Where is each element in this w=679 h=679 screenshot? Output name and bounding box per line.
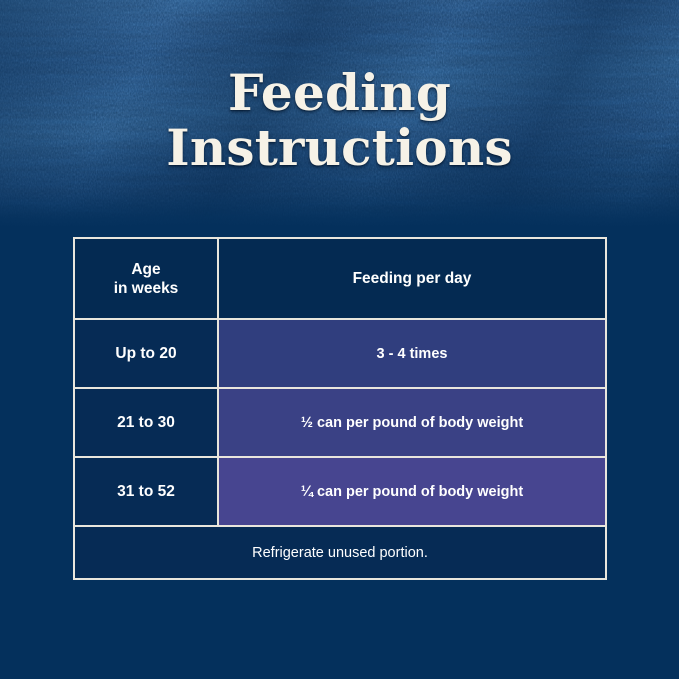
title-line-1: Feeding (0, 66, 679, 120)
footer-note: Refrigerate unused portion. (75, 527, 605, 578)
table-row: Up to 20 3 - 4 times (75, 318, 605, 387)
table-footer-row: Refrigerate unused portion. (75, 525, 605, 578)
cell-feeding-1: 3 - 4 times (219, 320, 605, 387)
page-title: Feeding Instructions (0, 66, 679, 176)
cell-feeding-2: ½ can per pound of body weight (219, 389, 605, 456)
column-header-age: Age in weeks (75, 239, 219, 318)
table-header-row: Age in weeks Feeding per day (75, 239, 605, 318)
feeding-table: Age in weeks Feeding per day Up to 20 3 … (73, 237, 607, 580)
cell-age-3: 31 to 52 (75, 458, 219, 525)
column-header-age-line-2: in weeks (114, 279, 179, 298)
column-header-feeding: Feeding per day (219, 239, 605, 318)
cell-age-2: 21 to 30 (75, 389, 219, 456)
table-row: 31 to 52 ¼ can per pound of body weight (75, 456, 605, 525)
title-line-2: Instructions (0, 120, 679, 176)
table-row: 21 to 30 ½ can per pound of body weight (75, 387, 605, 456)
cell-age-1: Up to 20 (75, 320, 219, 387)
column-header-age-line-1: Age (114, 260, 179, 279)
feeding-instructions-panel: Feeding Instructions Age in weeks Feedin… (0, 0, 679, 679)
cell-feeding-3: ¼ can per pound of body weight (219, 458, 605, 525)
